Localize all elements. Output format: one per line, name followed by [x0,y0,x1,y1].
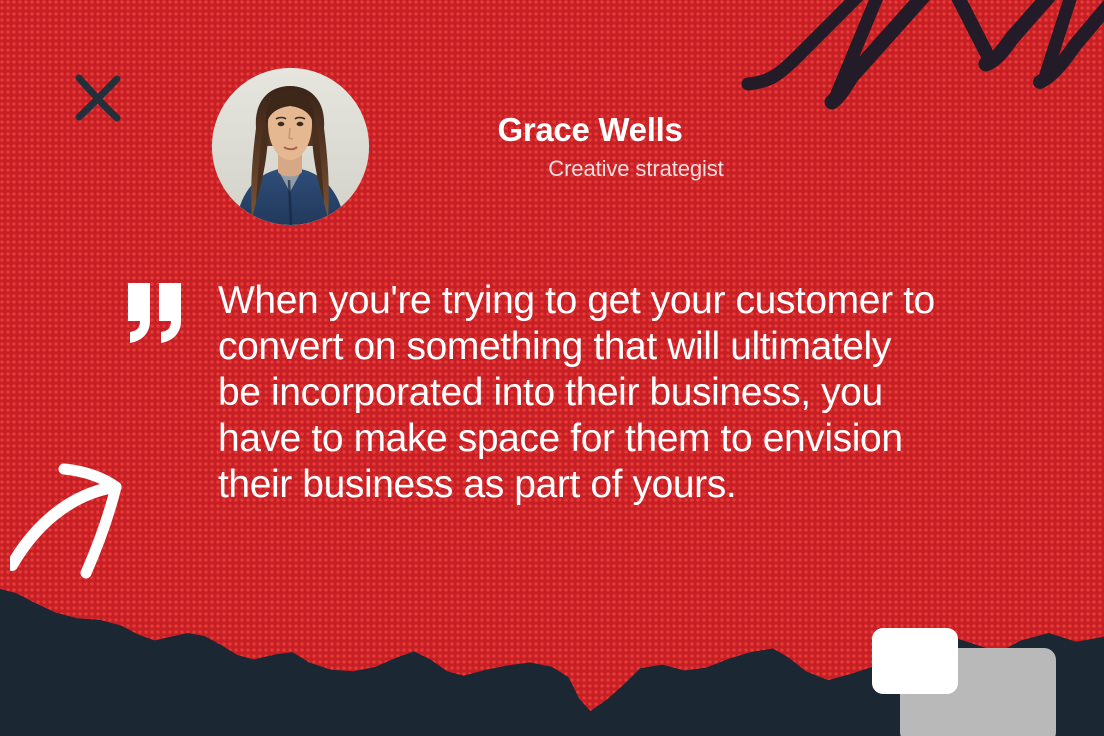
quote-open-icon [128,283,184,343]
person-name: Grace Wells [400,112,780,148]
white-rounded-card [872,628,958,694]
quote-line: When you're trying to get your customer … [218,278,998,324]
curved-arrow-icon [10,455,160,600]
person-role: Creative strategist [400,156,780,182]
quote-line: convert on something that will ultimatel… [218,324,998,370]
avatar [212,68,369,225]
person-identity-block: Grace Wells Creative strategist [400,112,780,182]
quote-text: When you're trying to get your customer … [218,278,998,508]
testimonial-slide: Grace Wells Creative strategist When you… [0,0,1104,736]
quote-line: have to make space for them to envision [218,416,998,462]
x-mark-icon [72,72,124,124]
quote-line: their business as part of yours. [218,462,998,508]
quote-line: be incorporated into their business, you [218,370,998,416]
